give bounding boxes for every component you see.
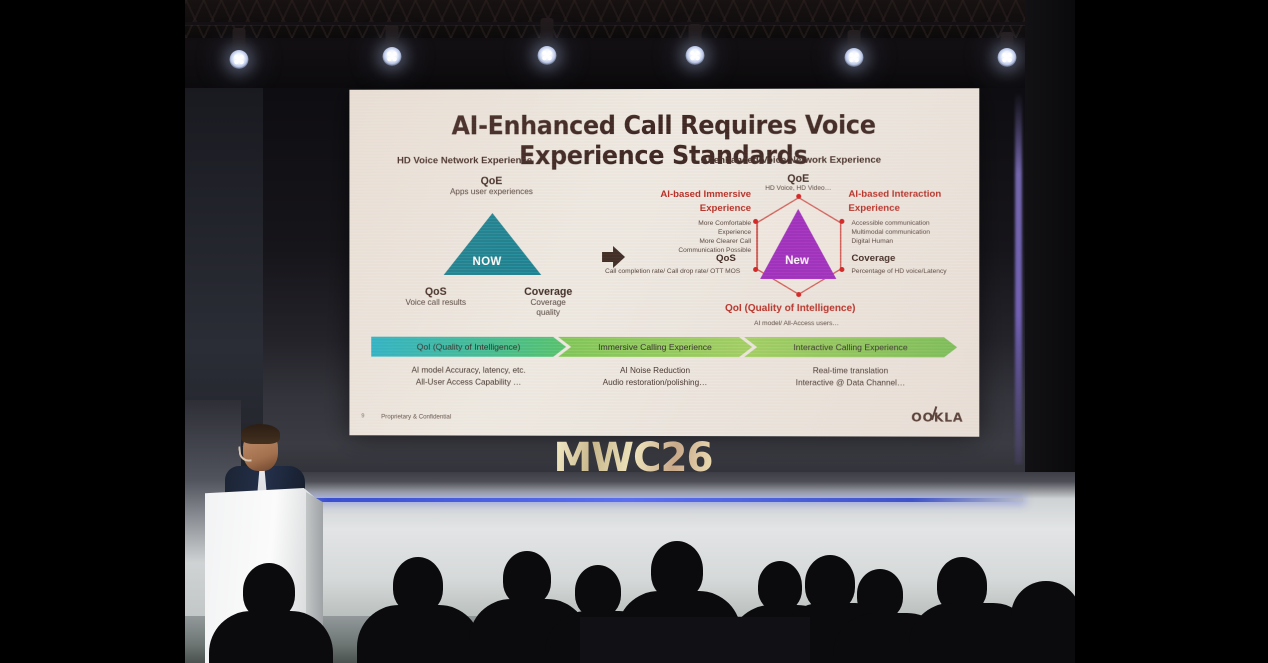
foreground-dark-block: [580, 617, 810, 663]
immersive-sub-0: More Comfortable: [633, 220, 751, 229]
left-qoe-label-group: QoE Apps user experiences: [422, 175, 561, 197]
ookla-logo-oo: OO: [911, 409, 934, 424]
letterbox-left: [0, 0, 185, 663]
chevron-3-label: Interactive Calling Experience: [793, 342, 907, 352]
immersive-sub-1: Experience: [633, 229, 751, 238]
now-triangle-label: NOW: [473, 256, 502, 268]
left-coverage-label: Coverage: [498, 286, 598, 298]
light-head-icon: [537, 46, 556, 65]
chevron-2: Immersive Calling Experience: [558, 337, 752, 357]
chevron-1-sub-line1: AI model Accuracy, latency, etc.: [371, 365, 566, 377]
hex-vertex-dot-lower-right: [839, 267, 844, 272]
audience-head-3: [503, 551, 551, 605]
audience-head-4: [575, 565, 621, 617]
blue-led-strip: [233, 498, 1023, 502]
immersive-title-group: AI-based Immersive Experience: [626, 189, 751, 214]
chevron-1-sub: AI model Accuracy, latency, etc. All-Use…: [371, 365, 566, 389]
hex-vertex-dot-lower-left: [753, 267, 758, 272]
audience-head-6: [758, 561, 802, 611]
slide-content: AI-Enhanced Call Requires Voice Experien…: [349, 88, 979, 437]
audience-shoulders-1: [209, 611, 333, 663]
immersive-sub-2: More Clearer Call: [633, 238, 751, 247]
right-qos-sub: Call completion rate/ Call drop rate/ OT…: [605, 268, 740, 277]
chevron-1-label: QoI (Quality of Intelligence): [417, 342, 521, 352]
ookla-logo-la: LA: [944, 410, 963, 425]
projection-screen: AI-Enhanced Call Requires Voice Experien…: [349, 88, 979, 437]
arrow-tip: [613, 246, 625, 268]
right-qoe-label: QoE: [733, 173, 863, 185]
interaction-title-line2: Experience: [848, 203, 979, 214]
stage-light-4: [685, 24, 704, 72]
chevron-band: QoI (Quality of Intelligence) Immersive …: [371, 337, 957, 358]
speaker-hair: [241, 424, 280, 444]
hex-vertex-dot-upper-right: [839, 219, 844, 224]
chevron-3: Interactive Calling Experience: [744, 337, 957, 357]
ookla-logo: OOKLA: [911, 409, 963, 424]
audience-head-8: [857, 569, 903, 619]
hex-vertex-dot-top: [796, 194, 801, 199]
audience-shoulders-10: [1011, 581, 1075, 663]
slide-confidentiality-note: Proprietary & Confidential: [381, 413, 451, 420]
right-coverage-sub: Percentage of HD voice/Latency: [851, 268, 946, 277]
light-head-icon: [844, 48, 863, 67]
letterbox-right: [1075, 0, 1268, 663]
headset-microphone-icon: [238, 445, 252, 462]
ceiling-area: [185, 0, 1075, 96]
chevron-3-sub: Real-time translation Interactive @ Data…: [744, 365, 957, 389]
interaction-sub-1: Multimodal communication: [851, 229, 979, 238]
left-column-heading: HD Voice Network Experience: [397, 155, 532, 166]
chevron-3-sub-line2: Interactive @ Data Channel…: [744, 377, 957, 389]
lighting-truss: [185, 0, 1075, 38]
chevron-1: QoI (Quality of Intelligence): [371, 337, 566, 357]
slide-page-number: 9: [361, 413, 364, 419]
right-coverage-label: Coverage: [851, 253, 895, 264]
interaction-sub-2: Digital Human: [851, 238, 979, 247]
interaction-sub-group: Accessible communication Multimodal comm…: [851, 220, 979, 247]
left-qos-label: QoS: [381, 286, 490, 298]
left-coverage-sub-2: quality: [498, 308, 598, 318]
slide-columns: HD Voice Network Experience QoE Apps use…: [349, 151, 979, 342]
conference-stage-photo: AI-Enhanced Call Requires Voice Experien…: [0, 0, 1268, 663]
photograph-area: AI-Enhanced Call Requires Voice Experien…: [185, 0, 1075, 663]
truss-bar: [185, 22, 1075, 25]
right-column-heading: AI-enhanced Voice Network Experience: [701, 155, 881, 166]
left-qos-sub: Voice call results: [381, 298, 490, 308]
immersive-title-line2: Experience: [626, 203, 751, 214]
new-triangle-label: New: [785, 255, 809, 267]
left-coverage-sub-1: Coverage: [498, 298, 598, 308]
ookla-logo-k: K: [934, 410, 944, 425]
chevron-2-label: Immersive Calling Experience: [598, 342, 712, 352]
right-qoe-sub: HD Voice, HD Video…: [733, 185, 863, 194]
interaction-title-line1: AI-based Interaction: [848, 189, 979, 200]
interaction-sub-0: Accessible communication: [851, 220, 979, 229]
left-coverage-group: Coverage Coverage quality: [498, 286, 598, 317]
immersive-sub-group: More Comfortable Experience More Clearer…: [633, 220, 751, 256]
left-qoe-sub: Apps user experiences: [422, 187, 561, 197]
chevron-1-sub-line2: All-User Access Capability …: [371, 376, 566, 388]
chevron-2-sub-line1: AI Noise Reduction: [558, 365, 752, 377]
chevron-2-sub: AI Noise Reduction Audio restoration/pol…: [558, 365, 752, 389]
immersive-title-line1: AI-based Immersive: [626, 189, 751, 200]
stage-light-1: [229, 28, 248, 76]
stage-light-2: [382, 25, 401, 73]
chevron-3-sub-line1: Real-time translation: [744, 365, 957, 377]
light-head-icon: [685, 46, 704, 65]
slide-footer: 9 Proprietary & Confidential OOKLA: [349, 411, 979, 430]
qoi-sub: AI model/ All-Access users…: [754, 320, 839, 329]
stage-light-6: [997, 32, 1016, 78]
hex-vertex-dot-upper-left: [753, 219, 758, 224]
left-qos-group: QoS Voice call results: [381, 286, 490, 308]
stage-light-5: [844, 30, 863, 76]
chevron-2-sub-line2: Audio restoration/polishing…: [558, 377, 752, 389]
light-head-icon: [229, 50, 248, 69]
light-head-icon: [382, 47, 401, 66]
new-triangle: [760, 209, 836, 279]
right-qos-label: QoS: [716, 253, 736, 264]
stage-light-3: [537, 18, 556, 70]
hex-vertex-dot-bottom: [796, 292, 801, 297]
right-qoe-group: QoE HD Voice, HD Video…: [733, 173, 863, 194]
left-qoe-label: QoE: [422, 175, 561, 187]
audience-shoulders-2: [357, 605, 481, 663]
interaction-title-group: AI-based Interaction Experience: [848, 189, 979, 214]
light-head-icon: [997, 48, 1016, 67]
qoi-label: QoI (Quality of Intelligence): [725, 303, 855, 314]
wall-purple-light-edge: [1015, 92, 1022, 464]
transition-arrow-icon: [602, 246, 627, 268]
